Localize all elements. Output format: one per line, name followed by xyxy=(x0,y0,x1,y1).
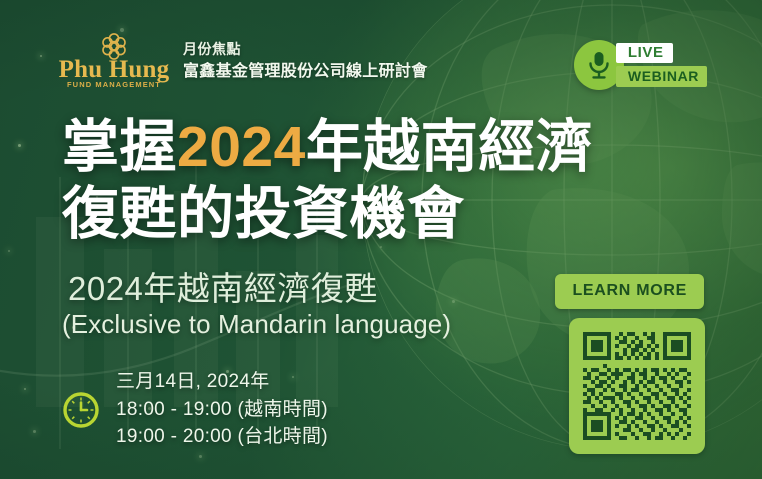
microphone-icon xyxy=(586,50,612,80)
live-webinar-badge: LIVE WEBINAR xyxy=(574,38,707,92)
webinar-label: WEBINAR xyxy=(616,66,707,87)
headline-line-2: 復甦的投資機會 xyxy=(62,181,593,248)
qr-code[interactable] xyxy=(569,318,705,454)
badge-label-stack: LIVE WEBINAR xyxy=(616,43,707,87)
event-date: 三月14日, 2024年 xyxy=(116,368,328,396)
logo-tagline: FUND MANAGEMENT xyxy=(58,80,170,89)
logo-wordmark: Phu Hung xyxy=(58,57,170,82)
live-label: LIVE xyxy=(616,43,673,63)
brand-logo: Phu Hung FUND MANAGEMENT xyxy=(58,33,170,91)
subtitle-chinese: 2024年越南經濟復甦 xyxy=(68,271,378,307)
headline-post: 年越南經濟 xyxy=(306,115,594,179)
headline-pre: 掌握 xyxy=(62,115,177,179)
kicker-line-1: 月份焦點 xyxy=(183,42,241,56)
event-time-vietnam: 18:00 - 19:00 (越南時間) xyxy=(116,396,328,424)
page-title: 掌握2024年越南經濟 復甦的投資機會 xyxy=(62,114,593,249)
event-datetime: 三月14日, 2024年 18:00 - 19:00 (越南時間) 19:00 … xyxy=(62,368,328,451)
kicker-line-2: 富鑫基金管理股份公司線上研討會 xyxy=(183,64,428,80)
webinar-promo-banner: Phu Hung FUND MANAGEMENT 月份焦點 富鑫基金管理股份公司… xyxy=(0,0,762,479)
headline-year: 2024 xyxy=(177,115,306,179)
headline-line-1: 掌握2024年越南經濟 xyxy=(62,114,593,181)
datetime-lines: 三月14日, 2024年 18:00 - 19:00 (越南時間) 19:00 … xyxy=(116,368,328,451)
event-time-taipei: 19:00 - 20:00 (台北時間) xyxy=(116,423,328,451)
learn-more-button[interactable]: LEARN MORE xyxy=(555,274,704,309)
clock-icon xyxy=(62,391,100,429)
subtitle-english: (Exclusive to Mandarin language) xyxy=(62,310,451,339)
qr-code-image xyxy=(579,328,695,444)
